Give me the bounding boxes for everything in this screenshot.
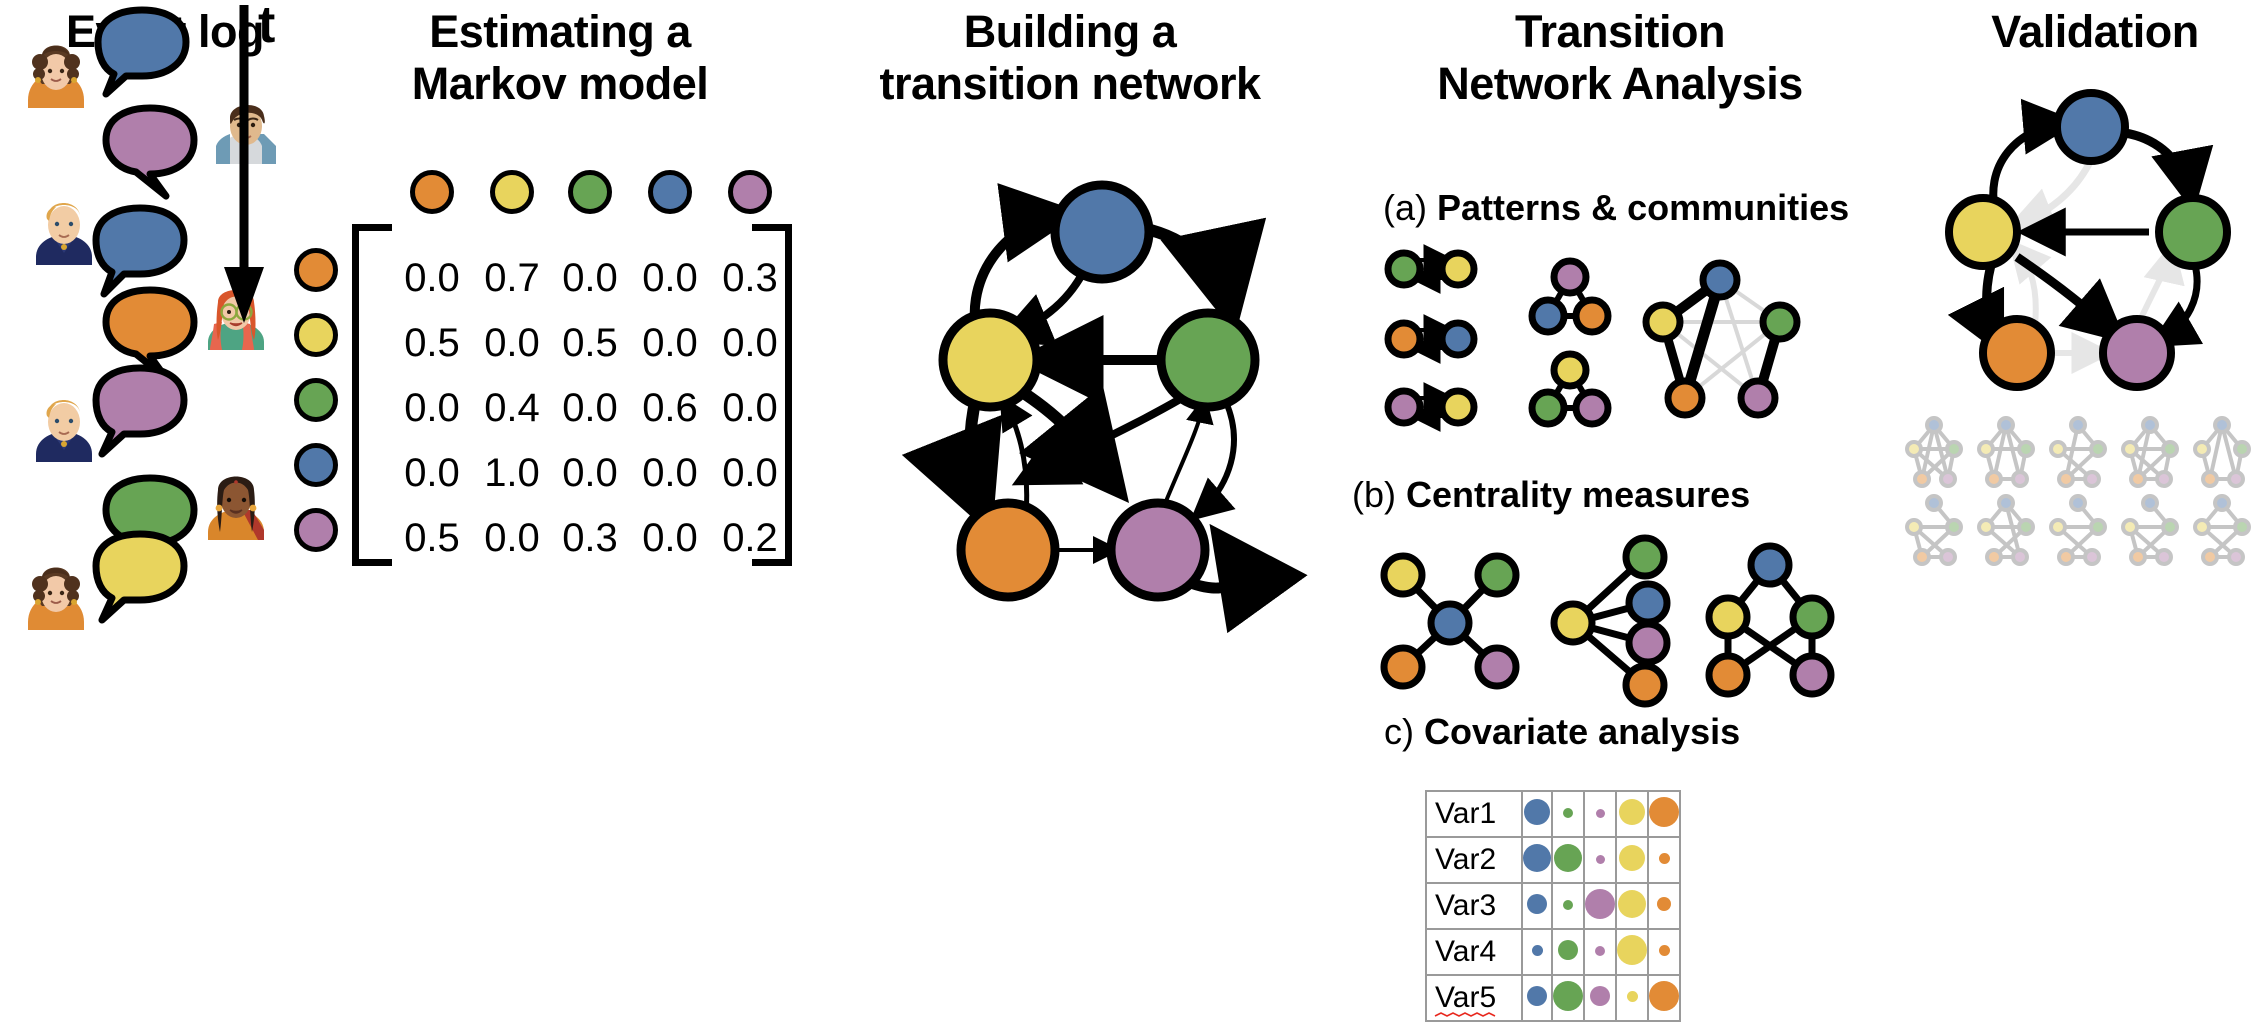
matrix-col-state-orange (410, 170, 454, 214)
covariate-cell (1584, 883, 1616, 929)
covariate-dot-blue (1523, 844, 1551, 872)
pruned-edge-blue-yellow (2017, 160, 2091, 225)
panel-title-markov-model: Estimating a Markov model (350, 6, 770, 110)
matrix-cell: 0.0 (545, 388, 635, 428)
covariate-cell (1648, 883, 1680, 929)
matrix-cell: 0.3 (545, 518, 635, 558)
covariate-cell (1522, 883, 1552, 929)
matrix-cell: 0.0 (545, 258, 635, 298)
covariate-dot-green (1558, 940, 1578, 960)
node-purple (2103, 319, 2171, 387)
tna-section-c-paren: c) (1384, 711, 1414, 752)
covariate-cell (1552, 837, 1584, 883)
covariate-dot-green (1563, 900, 1573, 910)
covariate-dot-blue (1527, 986, 1547, 1006)
event-log-panel: t (0, 0, 330, 520)
bootstrap-network (1907, 418, 1961, 486)
matrix-cell: 0.0 (705, 388, 795, 428)
node-green (2159, 198, 2227, 266)
tna-section-b-title: Centrality measures (1406, 474, 1750, 515)
matrix-cell: 0.0 (467, 518, 557, 558)
covariate-dot-yellow (1619, 845, 1645, 871)
spellcheck-underline-icon (1435, 1012, 1507, 1018)
matrix-row-state-yellow (294, 313, 338, 357)
matrix-cell: 0.4 (467, 388, 557, 428)
bootstrap-network (2051, 418, 2105, 486)
bootstrap-network (2195, 418, 2249, 486)
covariate-cell (1648, 975, 1680, 1021)
matrix-cell: 0.5 (545, 323, 635, 363)
tna-section-a-label: (a) Patterns & communities (1383, 188, 1849, 228)
panel-title-validation: Validation (1930, 6, 2260, 58)
covariate-row-label: Var5 (1426, 975, 1522, 1021)
matrix-cell: 0.7 (467, 258, 557, 298)
bootstrap-network (2051, 496, 2105, 564)
covariate-dot-yellow (1618, 890, 1646, 918)
matrix-row-state-orange (294, 248, 338, 292)
covariate-cell (1648, 791, 1680, 837)
covariate-cell (1648, 929, 1680, 975)
covariate-cell (1616, 929, 1648, 975)
covariate-cell (1522, 929, 1552, 975)
covariate-dot-purple (1585, 889, 1615, 919)
bootstrap-network (1979, 496, 2033, 564)
edge-orange-yellow (1004, 402, 1027, 514)
covariate-cell (1552, 791, 1584, 837)
matrix-cell: 0.0 (387, 258, 477, 298)
covariate-cell (1616, 837, 1648, 883)
matrix-cell: 0.0 (387, 388, 477, 428)
tna-section-a-paren: (a) (1383, 187, 1427, 228)
matrix-cell: 0.5 (387, 323, 477, 363)
patterns-communities-figure (1380, 250, 1880, 430)
node-blue (1055, 185, 1149, 279)
covariate-dot-blue (1532, 945, 1543, 956)
matrix-cell: 0.0 (625, 518, 715, 558)
triad-yellow-green-purple (1532, 354, 1608, 424)
covariate-dot-purple (1596, 809, 1605, 818)
community-graph (1646, 263, 1797, 415)
event-row-avatar (28, 534, 184, 630)
covariate-dot-blue (1524, 799, 1550, 825)
matrix-cell: 0.2 (705, 518, 795, 558)
matrix-cell: 1.0 (467, 453, 557, 493)
markov-matrix-panel: 0.0 0.7 0.0 0.0 0.3 0.5 0.0 0.5 0.0 0.0 … (310, 170, 830, 620)
dyad-purple-yellow (1388, 391, 1474, 423)
node-yellow (1949, 198, 2017, 266)
covariate-cell (1522, 975, 1552, 1021)
covariate-cell (1552, 975, 1584, 1021)
panel-title-transition-network: Building a transition network (820, 6, 1320, 110)
centrality-measures-figure (1355, 535, 1855, 715)
covariate-dot-orange (1659, 945, 1670, 956)
table-row: Var5 (1426, 975, 1680, 1021)
covariate-cell (1616, 883, 1648, 929)
matrix-col-state-blue (648, 170, 692, 214)
matrix-cell: 0.0 (705, 453, 795, 493)
bootstrap-network (1907, 496, 1961, 564)
tna-section-c-title: Covariate analysis (1424, 711, 1740, 752)
edge-blue-green (2125, 133, 2191, 197)
matrix-row-state-purple (294, 508, 338, 552)
edge-green-purple (1198, 402, 1234, 514)
tna-section-b-label: (b) Centrality measures (1352, 475, 1750, 515)
tna-section-b-paren: (b) (1352, 474, 1396, 515)
covariate-row-label: Var4 (1426, 929, 1522, 975)
dyad-orange-blue (1388, 323, 1474, 355)
table-row: Var4 (1426, 929, 1680, 975)
matrix-cell: 0.0 (467, 323, 557, 363)
covariate-row-label-text: Var5 (1435, 981, 1496, 1014)
table-row: Var1 (1426, 791, 1680, 837)
matrix-cell: 0.5 (387, 518, 477, 558)
tna-section-c-label: c) Covariate analysis (1384, 712, 1740, 752)
matrix-cell: 0.0 (625, 258, 715, 298)
event-row-avatar (28, 10, 186, 108)
covariate-cell (1552, 929, 1584, 975)
matrix-cell: 0.0 (387, 453, 477, 493)
bootstrap-network (1979, 418, 2033, 486)
table-row: Var2 (1426, 837, 1680, 883)
matrix-cell: 0.6 (625, 388, 715, 428)
covariate-cell (1584, 791, 1616, 837)
matrix-cell: 0.0 (705, 323, 795, 363)
bootstrap-network (2123, 496, 2177, 564)
matrix-cell: 0.0 (545, 453, 635, 493)
node-purple (1111, 503, 1205, 597)
covariate-dot-purple (1595, 946, 1605, 956)
panel-title-tna: Transition Network Analysis (1390, 6, 1850, 110)
validation-network-graph (1905, 75, 2265, 405)
triad-purple-blue-orange (1532, 261, 1608, 332)
covariate-analysis-table: Var1 Var2 Var3 Var4 Var5 (1425, 790, 1681, 1022)
node-blue (2057, 93, 2125, 161)
matrix-cell: 0.0 (625, 323, 715, 363)
covariate-dot-purple (1596, 855, 1605, 864)
edge-purple-green (1160, 402, 1204, 516)
bootstrap-network (2195, 496, 2249, 564)
covariate-cell (1648, 837, 1680, 883)
matrix-cell: 0.3 (705, 258, 795, 298)
covariate-dot-yellow (1617, 935, 1647, 965)
covariate-row-label: Var3 (1426, 883, 1522, 929)
tna-section-a-title: Patterns & communities (1437, 187, 1849, 228)
bootstrap-network (2123, 418, 2177, 486)
covariate-dot-orange (1659, 853, 1670, 864)
covariate-dot-blue (1527, 894, 1547, 914)
covariate-cell (1584, 975, 1616, 1021)
node-green (1161, 313, 1255, 407)
event-row-avatar (36, 368, 184, 462)
matrix-left-bracket (352, 224, 392, 566)
matrix-row-state-green (294, 378, 338, 422)
matrix-col-state-yellow (490, 170, 534, 214)
covariate-dot-green (1553, 981, 1583, 1011)
edge-yellow-orange (970, 398, 982, 510)
covariate-cell (1616, 975, 1648, 1021)
node-orange (1983, 319, 2051, 387)
covariate-dot-yellow (1619, 799, 1645, 825)
covariate-cell (1522, 791, 1552, 837)
covariate-row-label: Var1 (1426, 791, 1522, 837)
covariate-dot-purple (1590, 986, 1610, 1006)
matrix-col-state-green (568, 170, 612, 214)
covariate-cell (1552, 883, 1584, 929)
centrality-fan-graph (1554, 538, 1667, 704)
transition-network-graph (830, 110, 1350, 630)
time-axis-label: t (258, 0, 275, 55)
bootstrap-network-grid (1900, 415, 2266, 575)
event-row-avatar (36, 203, 184, 294)
matrix-cell: 0.0 (625, 453, 715, 493)
matrix-col-state-purple (728, 170, 772, 214)
covariate-dot-orange (1649, 797, 1679, 827)
centrality-star-graph (1384, 556, 1516, 686)
covariate-dot-yellow (1627, 991, 1638, 1002)
covariate-dot-orange (1649, 981, 1679, 1011)
covariate-cell (1616, 791, 1648, 837)
covariate-cell (1584, 837, 1616, 883)
node-yellow (943, 313, 1037, 407)
node-orange (961, 503, 1055, 597)
dyad-green-yellow (1388, 253, 1474, 285)
covariate-dot-green (1554, 844, 1582, 872)
covariate-cell (1522, 837, 1552, 883)
covariate-cell (1584, 929, 1616, 975)
edge-yellow-purple (1016, 388, 1112, 482)
matrix-row-state-blue (294, 443, 338, 487)
table-row: Var3 (1426, 883, 1680, 929)
centrality-lattice-graph (1709, 546, 1831, 694)
covariate-dot-green (1563, 808, 1573, 818)
covariate-row-label: Var2 (1426, 837, 1522, 883)
edge-blue-green (1142, 228, 1230, 308)
covariate-dot-orange (1657, 897, 1671, 911)
